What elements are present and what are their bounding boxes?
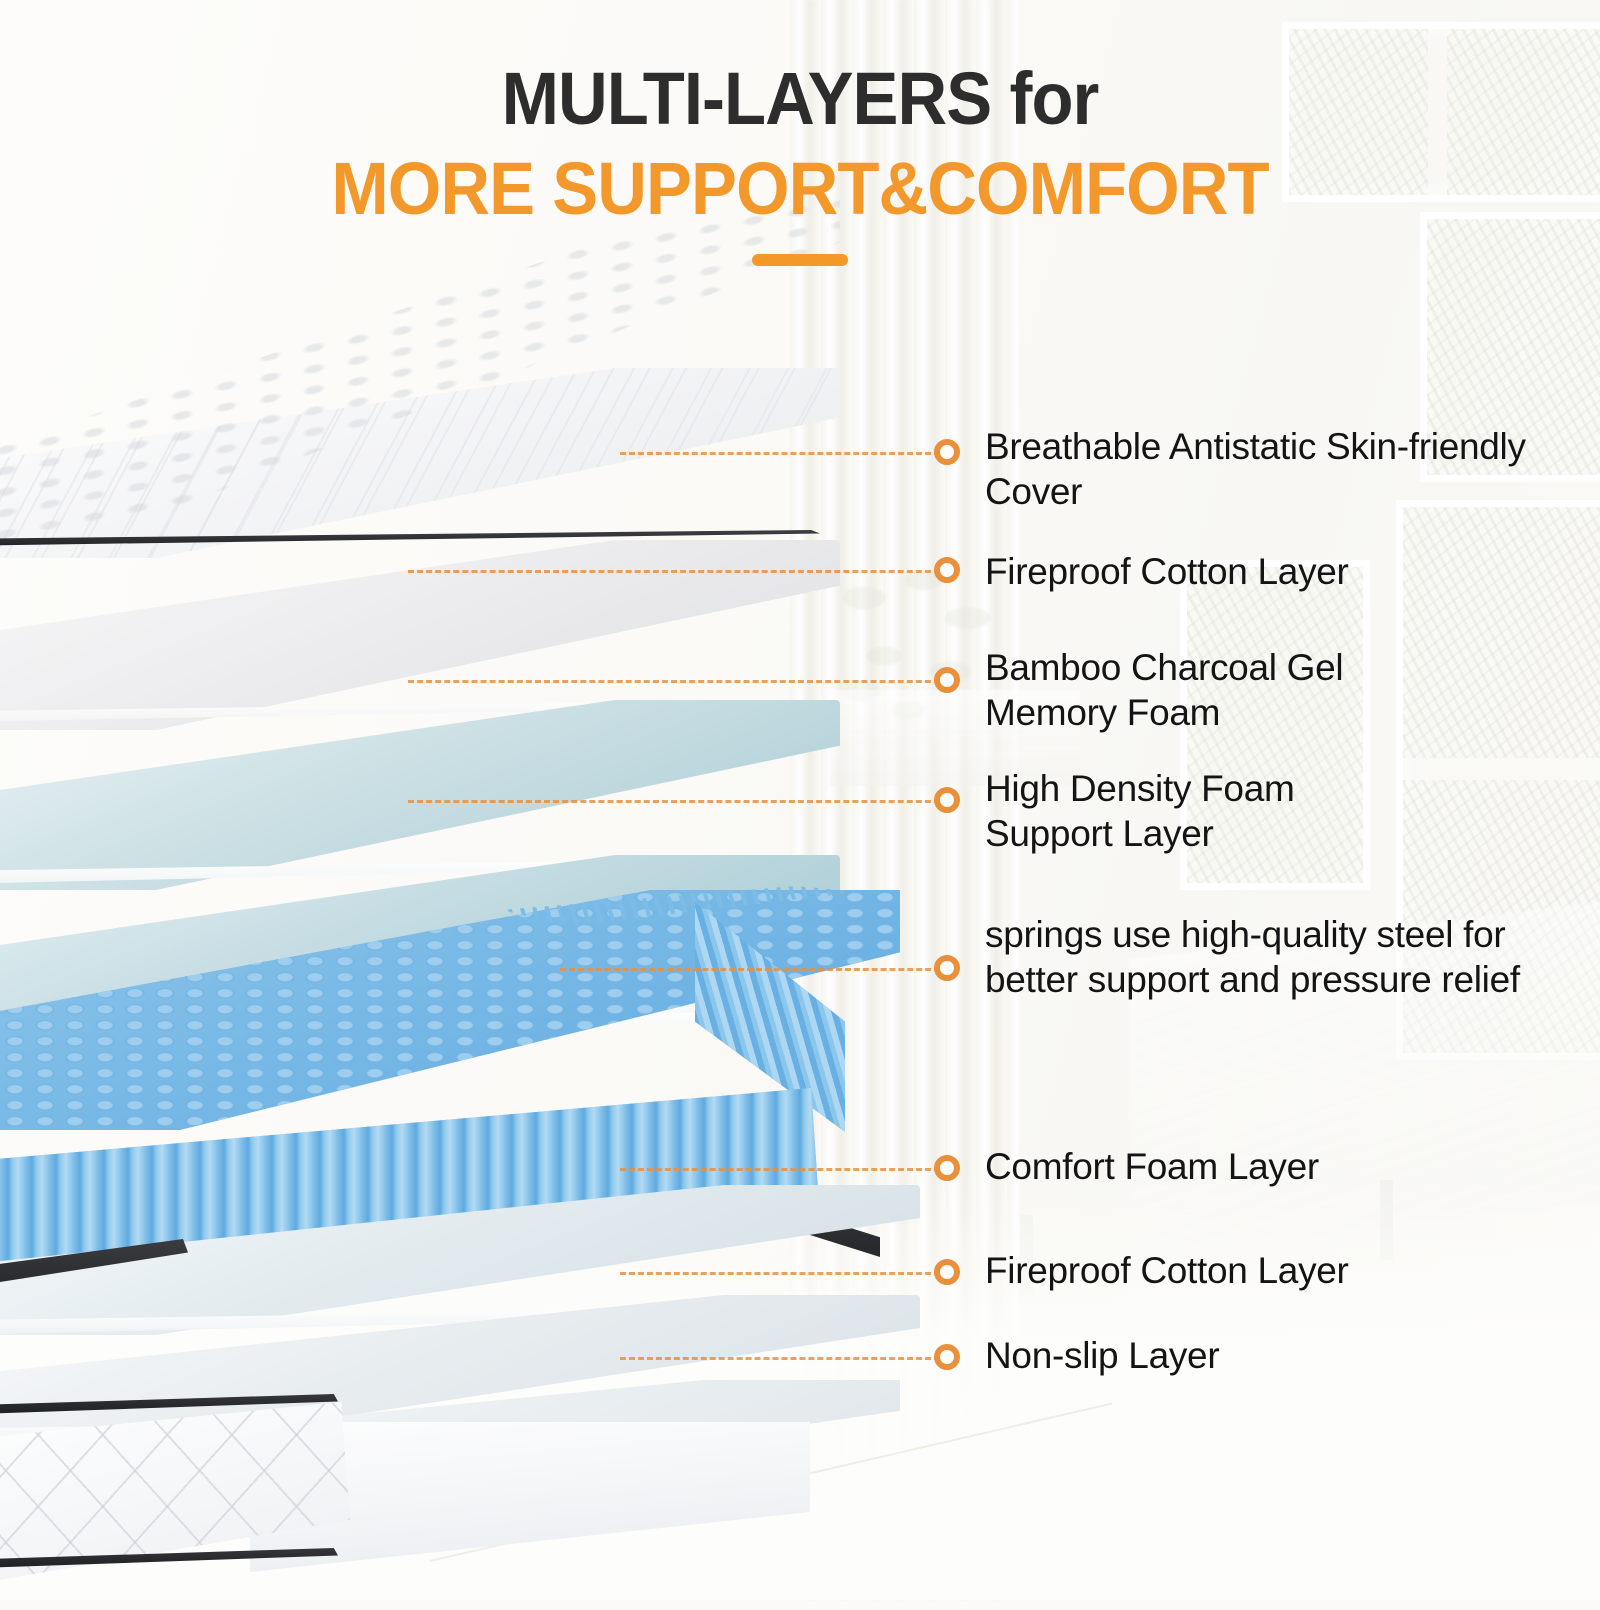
callout-label: Bamboo Charcoal Gel Memory Foam [985, 645, 1415, 735]
callout-label: Breathable Antistatic Skin-friendly Cove… [985, 424, 1585, 514]
callout-label: Fireproof Cotton Layer [985, 1248, 1585, 1293]
callout-marker-icon [934, 955, 960, 981]
callout-marker-icon [934, 439, 960, 465]
callout-label: springs use high-quality steel for bette… [985, 912, 1600, 1002]
callout-marker-icon [934, 787, 960, 813]
callout-dash-line [560, 968, 940, 971]
callout-marker-icon [934, 667, 960, 693]
callout-dash-line [620, 1168, 940, 1171]
callout-marker-icon [934, 1155, 960, 1181]
callout-marker-icon [934, 557, 960, 583]
callout-dash-line [408, 570, 940, 573]
callout-label: Non-slip Layer [985, 1333, 1585, 1378]
callout-dash-line [620, 452, 940, 455]
callout-label: Fireproof Cotton Layer [985, 549, 1585, 594]
callout-label: Comfort Foam Layer [985, 1144, 1585, 1189]
callout-label: High Density Foam Support Layer [985, 766, 1385, 856]
callout-marker-icon [934, 1259, 960, 1285]
callout-dash-line [620, 1272, 940, 1275]
callout-dash-line [408, 680, 940, 683]
callout-marker-icon [934, 1344, 960, 1370]
callout-dash-line [408, 800, 940, 803]
callout-dash-line [620, 1357, 940, 1360]
callout-group: Breathable Antistatic Skin-friendly Cove… [0, 0, 1600, 1600]
